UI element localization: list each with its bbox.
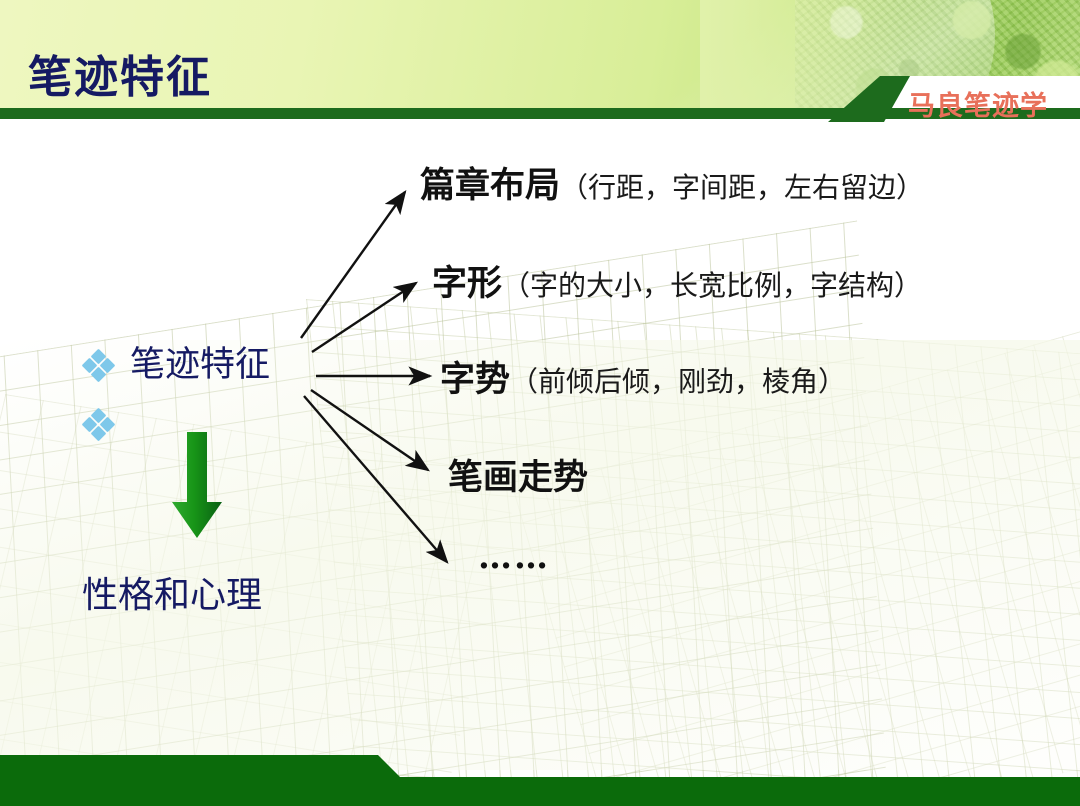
grid-paper-background-1 (0, 220, 891, 806)
branch-1-paren: （字的大小，长宽比例，字结构） (502, 269, 922, 302)
outcome-label: 性格和心理 (82, 578, 262, 614)
brand-label: 马良笔迹学 (908, 84, 1048, 123)
branch-2-main: 字势 (440, 359, 510, 400)
arrow-to-branch-0 (301, 192, 405, 338)
branch-0-main: 篇章布局 (420, 165, 560, 206)
root-node: 笔迹特征 (84, 348, 270, 383)
branch-item-0: 篇章布局（行距，字间距，左右留边） (420, 166, 1020, 207)
arrow-to-branch-1 (312, 283, 416, 352)
root-node-label: 笔迹特征 (130, 348, 270, 383)
down-arrow-icon (168, 432, 226, 540)
branch-item-3: 笔画走势 (448, 458, 848, 499)
branch-item-2: 字势（前倾后倾，刚劲，棱角） (440, 360, 1000, 401)
branch-1-main: 字形 (432, 263, 502, 304)
arrow-to-branch-3 (311, 390, 428, 470)
slide-canvas: 笔迹特征 马良笔迹学 笔迹特征 (0, 0, 1080, 806)
diamond-cluster-bullet-icon-2 (84, 410, 114, 440)
arrow-to-branch-4 (304, 396, 447, 562)
branch-4-main: …… (478, 537, 550, 577)
footer-band-right (380, 777, 1080, 806)
page-title: 笔迹特征 (28, 41, 212, 105)
diamond-cluster-bullet-icon (84, 351, 114, 381)
branch-item-4: …… (478, 538, 778, 577)
branch-0-paren: （行距，字间距，左右留边） (560, 171, 924, 204)
second-bullet-row (84, 410, 130, 440)
branch-item-1: 字形（字的大小，长宽比例，字结构） (432, 264, 1022, 305)
branch-3-main: 笔画走势 (448, 457, 588, 498)
branch-2-paren: （前倾后倾，刚劲，棱角） (510, 365, 846, 398)
footer-band-left (0, 755, 400, 806)
